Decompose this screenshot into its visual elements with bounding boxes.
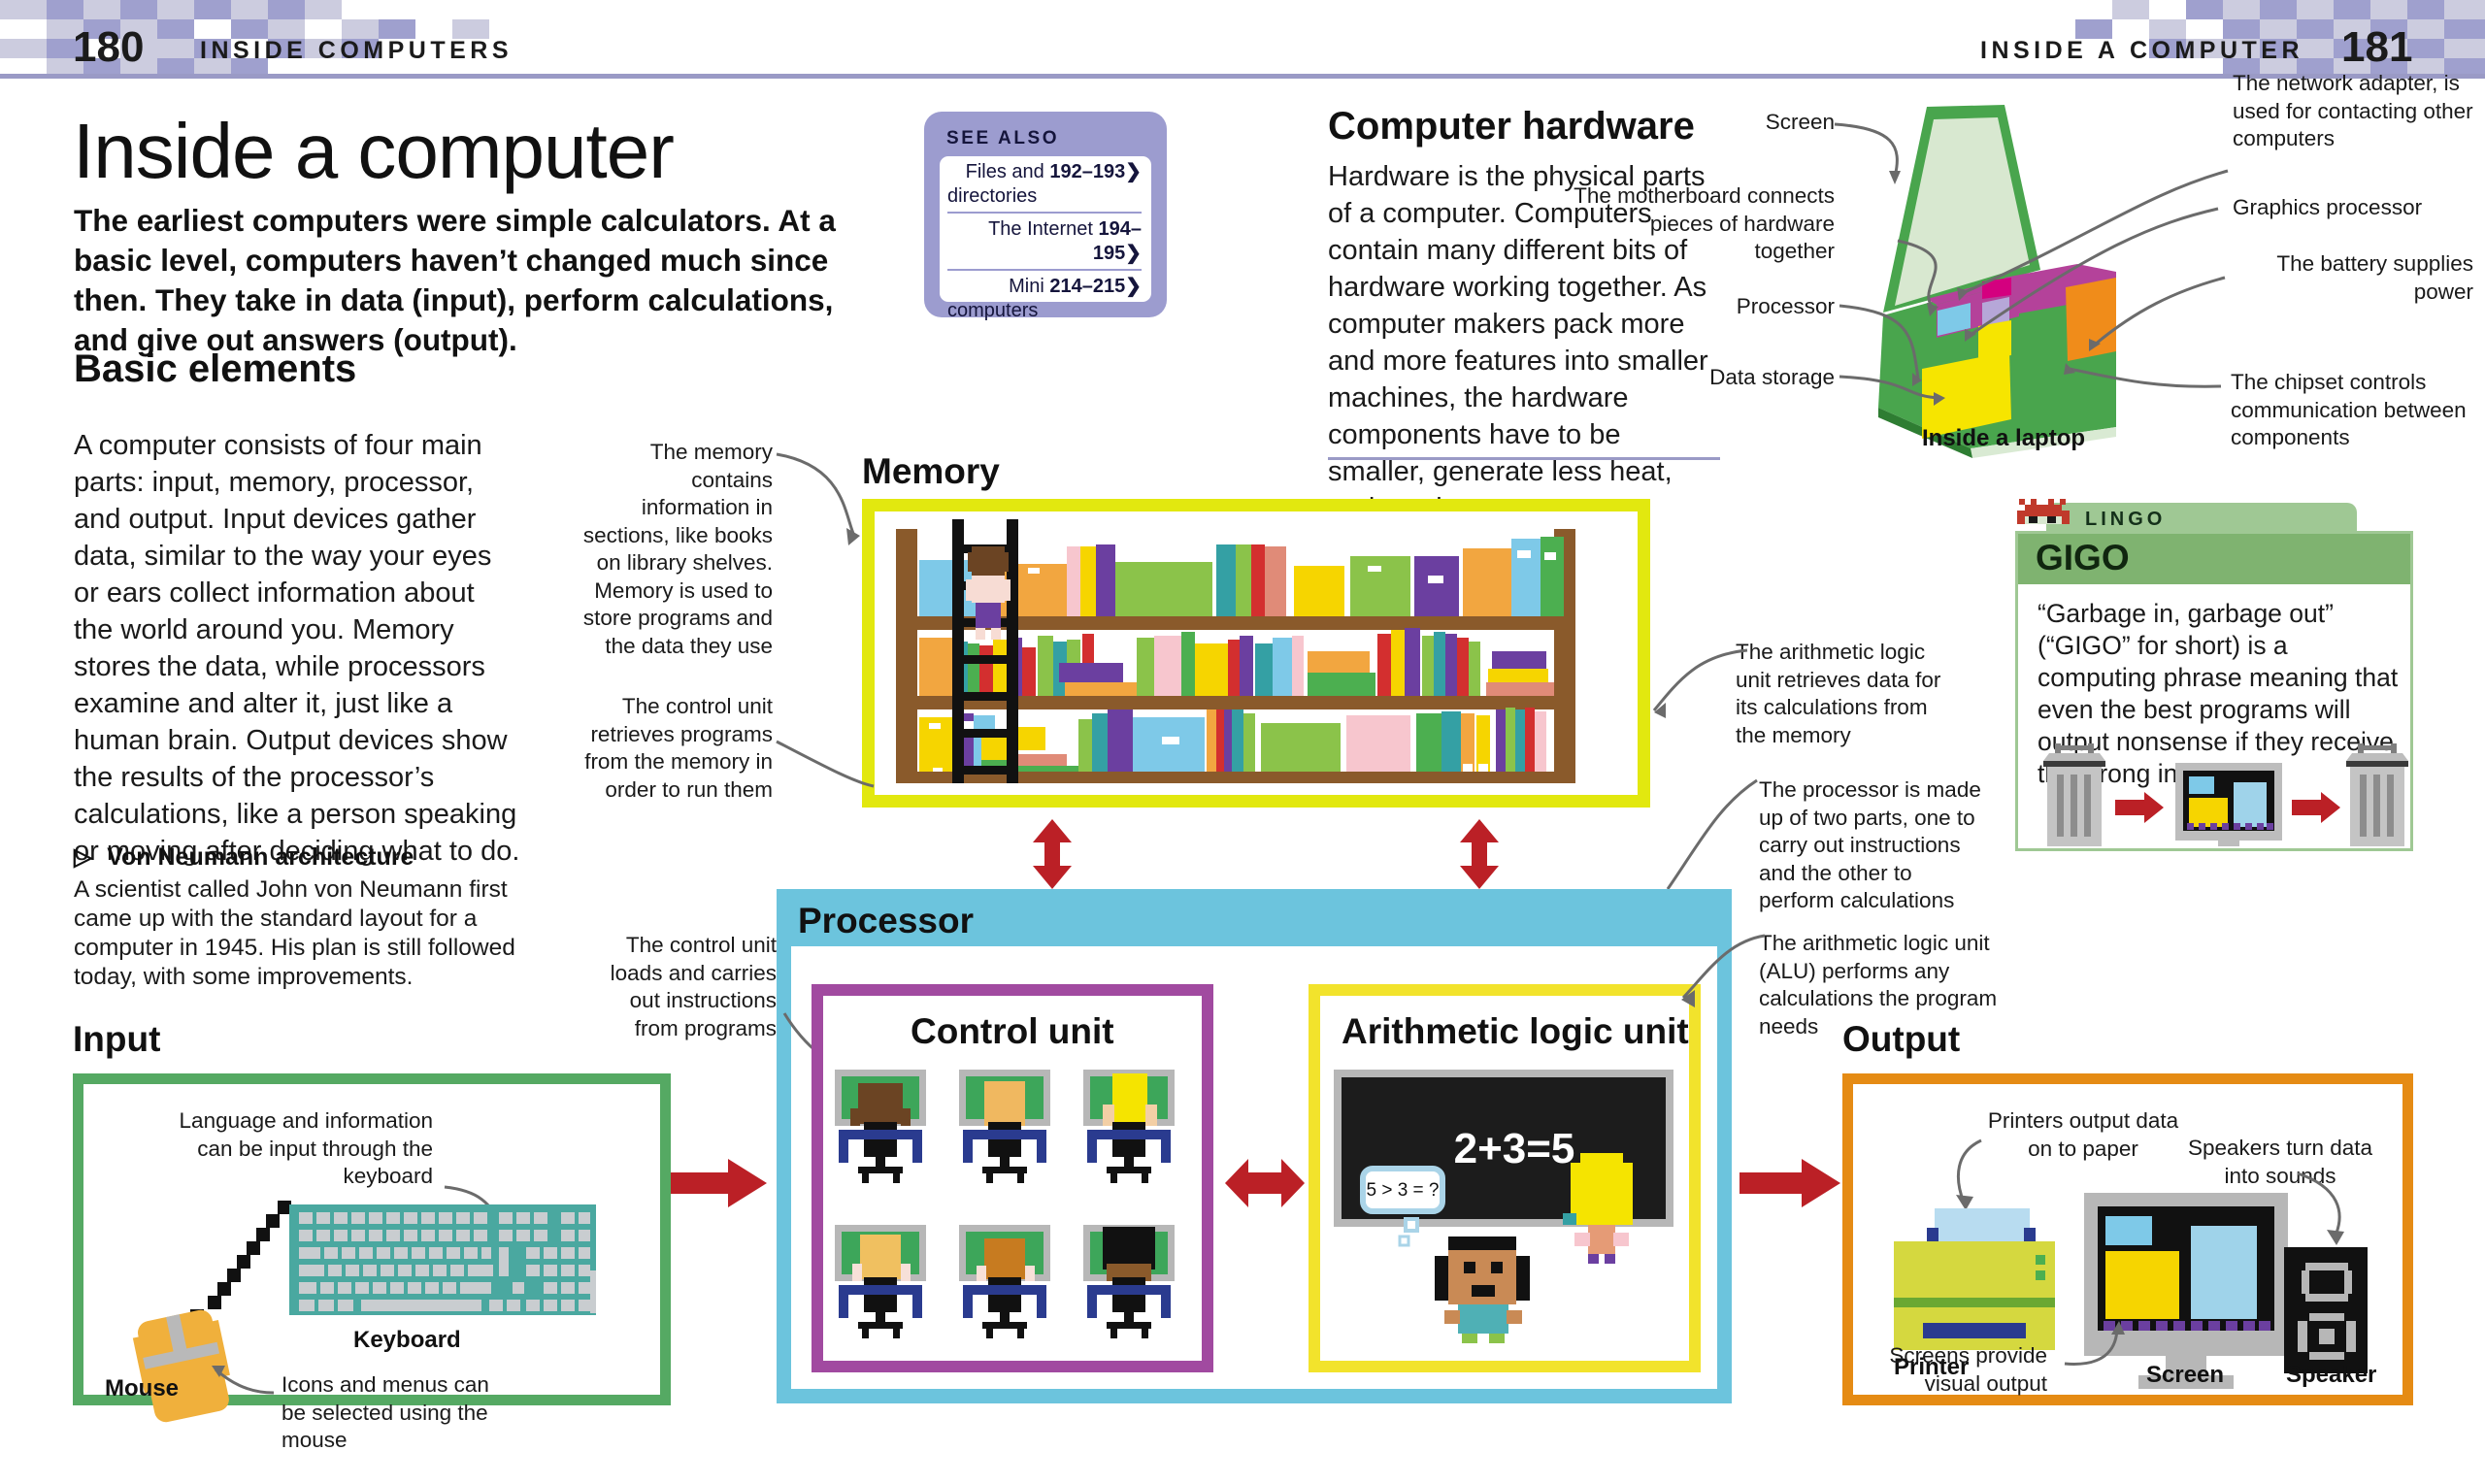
- control-unit-box: Control unit: [812, 984, 1213, 1372]
- trash-can-right-icon: [2346, 743, 2408, 846]
- input-to-processor-arrow: [666, 1157, 769, 1209]
- see-also-item-mini[interactable]: Mini 214–215❯ computers: [947, 275, 1142, 323]
- memory-to-processor-arrow-right: [1456, 819, 1503, 889]
- control-unit-title: Control unit: [911, 1011, 1114, 1052]
- triangle-right-icon: ▷: [74, 843, 92, 871]
- see-also-item-text: The Internet: [988, 218, 1093, 240]
- memory-leader-alu: [1631, 621, 1767, 738]
- laptop-label-graphics-processor: Graphics processor: [2233, 194, 2475, 222]
- laptop-diagram: Screen The motherboard connects pieces o…: [1728, 87, 2485, 476]
- input-label-mouse: Mouse: [105, 1375, 179, 1402]
- input-title: Input: [73, 1019, 160, 1060]
- memory-to-processor-arrow-left: [1029, 819, 1076, 889]
- header-rule-left: [0, 74, 1242, 79]
- input-box: Language and information can be input th…: [73, 1073, 671, 1405]
- see-also-box: SEE ALSO Files and 192–193❯ directories …: [924, 112, 1167, 317]
- see-also-item-internet[interactable]: The Internet 194–195❯: [947, 217, 1142, 266]
- chevron-right-icon: ❯: [1125, 243, 1142, 264]
- see-also-item-text2: directories: [947, 184, 1142, 209]
- arrow-right-icon-2: [2292, 792, 2340, 823]
- worker-1: [835, 1070, 926, 1183]
- student-figure: [1435, 1237, 1530, 1343]
- output-box: Printers output data on to paper Speaker…: [1842, 1073, 2413, 1405]
- laptop-label-network-adapter: The network adapter, is used for contact…: [2233, 70, 2475, 153]
- see-also-item-text: Files and: [966, 161, 1044, 182]
- alu-thought-text: 5 > 3 = ?: [1366, 1180, 1439, 1201]
- arrow-right-icon-1: [2115, 792, 2164, 823]
- runhead-left: INSIDE COMPUTERS: [200, 37, 513, 65]
- alu-board-sum: 2+3=5: [1454, 1125, 1575, 1172]
- output-title: Output: [1842, 1019, 1960, 1060]
- output-callout-screen: Screens provide visual output: [1843, 1342, 2047, 1398]
- basic-elements-heading: Basic elements: [74, 347, 356, 391]
- control-to-alu-arrow: [1225, 1157, 1305, 1209]
- memory-box: [862, 499, 1650, 808]
- worker-6: [1083, 1225, 1175, 1338]
- folio-right: 181: [2341, 23, 2412, 72]
- page-header: 180 INSIDE COMPUTERS INSIDE A COMPUTER 1…: [0, 0, 2485, 78]
- memory-callout-alu: The arithmetic logic unit retrieves data…: [1736, 639, 1944, 749]
- laptop-label-motherboard: The motherboard connects pieces of hardw…: [1573, 182, 1835, 266]
- control-unit-workers: [825, 1066, 1202, 1357]
- runhead-right: INSIDE A COMPUTER: [1980, 37, 2303, 65]
- processor-title: Processor: [798, 901, 974, 941]
- see-also-item-text2: computers: [947, 299, 1142, 323]
- processor-to-output-arrow: [1739, 1157, 1842, 1209]
- von-neumann-note-heading: Von Neumann architecture: [107, 843, 414, 871]
- laptop-label-data-storage: Data storage: [1670, 364, 1835, 392]
- gigo-illustration: [2032, 740, 2401, 846]
- worker-3: [1083, 1070, 1175, 1183]
- standfirst-paragraph: The earliest computers were simple calcu…: [74, 201, 841, 360]
- worker-5: [959, 1225, 1050, 1338]
- chevron-right-icon: ❯: [1125, 276, 1142, 297]
- von-neumann-note-body: A scientist called John von Neumann firs…: [74, 875, 520, 992]
- screen-icon: [2084, 1193, 2288, 1389]
- processor-leader-two-parts: [1640, 767, 1796, 903]
- see-also-item-pages: 192–193: [1049, 161, 1125, 182]
- see-also-label: SEE ALSO: [946, 128, 1059, 149]
- von-neumann-note: ▷ Von Neumann architecture A scientist c…: [74, 842, 520, 992]
- basic-elements-body: A computer consists of four main parts: …: [74, 427, 520, 870]
- laptop-label-battery: The battery supplies power: [2233, 250, 2473, 306]
- see-also-list: Files and 192–193❯ directories The Inter…: [940, 156, 1151, 302]
- gigo-card: GIGO “Garbage in, garbage out” (“GIGO” f…: [2015, 531, 2413, 851]
- printer-icon: [1894, 1208, 2055, 1350]
- hardware-divider-rule: [1328, 457, 1720, 460]
- robot-icon: [2015, 499, 2075, 528]
- lingo-tab-label: LINGO: [2085, 509, 2166, 531]
- worker-2: [959, 1070, 1050, 1183]
- laptop-label-processor: Processor: [1689, 293, 1835, 321]
- alu-classroom-illustration: 2+3=5 5 > 3 = ?: [1320, 1066, 1689, 1367]
- see-also-divider: [947, 269, 1142, 271]
- laptop-caption: Inside a laptop: [1922, 425, 2085, 452]
- monitor-icon: [2175, 763, 2282, 846]
- gigo-term: GIGO: [2036, 538, 2130, 578]
- see-also-item-pages: 214–215: [1049, 276, 1125, 297]
- output-label-speaker: Speaker: [2286, 1362, 2376, 1389]
- see-also-item-files[interactable]: Files and 192–193❯ directories: [947, 160, 1142, 209]
- input-label-keyboard: Keyboard: [353, 1327, 461, 1354]
- alu-box: Arithmetic logic unit 2+3=5 5 > 3 = ?: [1309, 984, 1701, 1372]
- see-also-divider: [947, 212, 1142, 214]
- alu-title: Arithmetic logic unit: [1342, 1011, 1689, 1052]
- output-label-screen: Screen: [2146, 1362, 2224, 1389]
- control-unit-callout: The control unit loads and carries out i…: [582, 932, 777, 1042]
- memory-leader-contains: [738, 427, 932, 621]
- folio-left: 180: [73, 23, 144, 72]
- speaker-icon: [2284, 1247, 2368, 1373]
- see-also-item-text: Mini: [1009, 276, 1044, 297]
- alu-leader: [1650, 922, 1786, 1039]
- laptop-label-chipset: The chipset controls communication betwe…: [2231, 369, 2478, 452]
- chevron-right-icon: ❯: [1125, 161, 1142, 182]
- page-title: Inside a computer: [73, 107, 674, 196]
- hardware-heading: Computer hardware: [1328, 105, 1695, 148]
- input-callout-mouse: Icons and menus can be selected using th…: [282, 1371, 514, 1455]
- worker-4: [835, 1225, 926, 1338]
- trash-can-left-icon: [2043, 743, 2105, 846]
- memory-leader-control: [738, 738, 951, 854]
- bookshelf-illustration: [875, 511, 1638, 795]
- teacher-figure: [1563, 1153, 1633, 1264]
- laptop-label-screen: Screen: [1718, 109, 1835, 137]
- gigo-header: GIGO: [2018, 534, 2410, 584]
